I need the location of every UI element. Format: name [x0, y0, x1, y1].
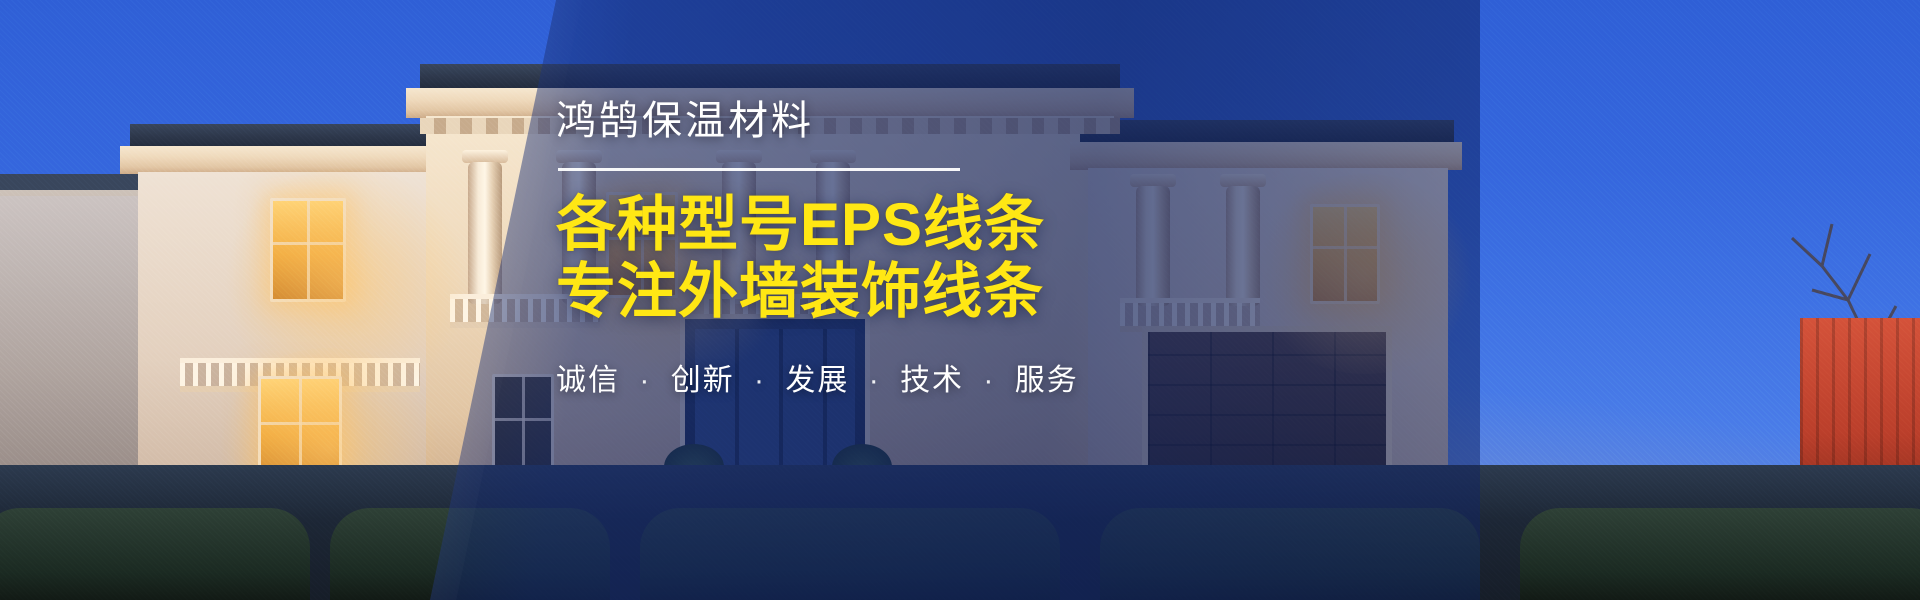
lit-window — [270, 198, 346, 302]
tagline-item-4: 服务 — [1015, 364, 1079, 397]
hedge — [330, 508, 610, 600]
left-wing-cornice — [120, 146, 468, 174]
portico-column — [468, 162, 502, 304]
divider-rule — [558, 168, 960, 171]
hedge — [1520, 508, 1920, 600]
center-roof — [420, 64, 1120, 90]
brand-subtitle: 鸿鹄保温材料 — [556, 96, 1456, 146]
tagline-item-3: 技术 — [900, 364, 964, 397]
tagline-item-2: 发展 — [785, 364, 849, 397]
tagline-separator: · — [754, 364, 766, 397]
hedge — [0, 508, 310, 600]
tagline-separator: · — [983, 364, 995, 397]
tagline: 诚信 · 创新 · 发展 · 技术 · 服务 — [556, 355, 1456, 399]
headline-line-2: 专注外墙装饰线条 — [556, 258, 1456, 325]
promo-banner: 鸿鹄保温材料 各种型号EPS线条 专注外墙装饰线条 诚信 · 创新 · 发展 ·… — [0, 0, 1920, 600]
hedge — [1100, 508, 1480, 600]
tagline-separator: · — [639, 364, 651, 397]
banner-content: 鸿鹄保温材料 各种型号EPS线条 专注外墙装饰线条 诚信 · 创新 · 发展 ·… — [556, 96, 1456, 399]
tagline-separator: · — [869, 364, 881, 397]
tagline-item-0: 诚信 — [556, 364, 620, 397]
hedge — [640, 508, 1060, 600]
left-wing-roof — [130, 124, 460, 148]
tagline-item-1: 创新 — [671, 364, 735, 397]
dark-window — [492, 374, 554, 478]
headline-line-1: 各种型号EPS线条 — [556, 191, 1456, 258]
